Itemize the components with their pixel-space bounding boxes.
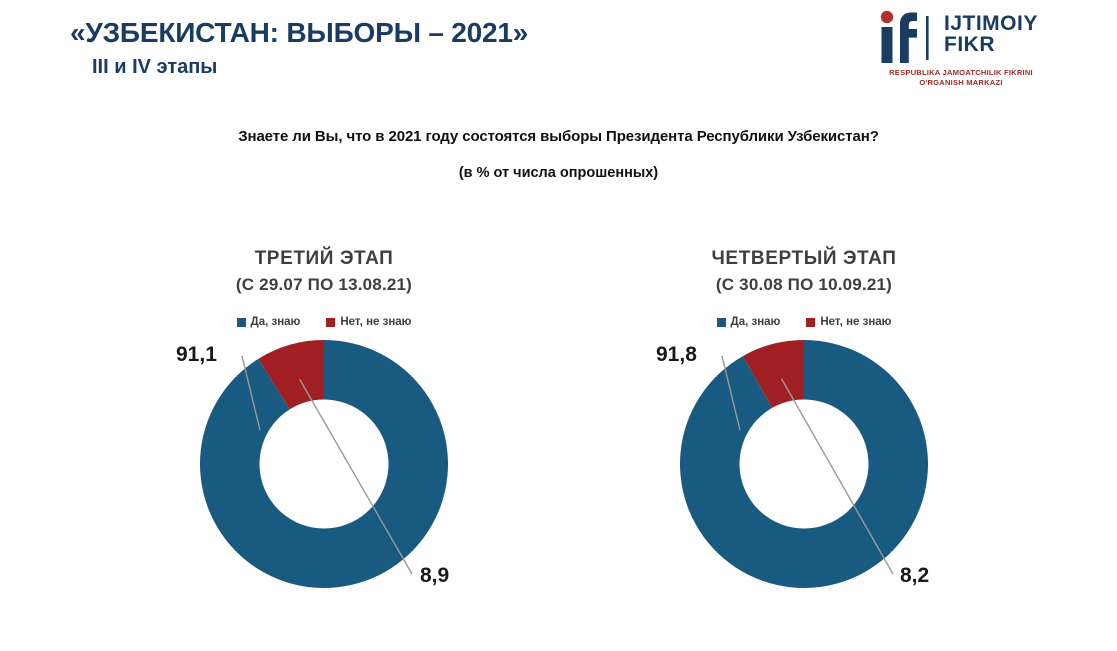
- legend-item-yes[interactable]: Да, знаю: [237, 316, 301, 328]
- logo-wordmark: IJTIMOIY FIKR: [944, 14, 1038, 55]
- logo-word-line1: IJTIMOIY: [944, 14, 1038, 35]
- legend-label-no: Нет, не знаю: [340, 316, 411, 328]
- chart-panel-stage-three: ТРЕТИЙ ЭТАП (С 29.07 ПО 13.08.21) Да, зн…: [64, 248, 584, 648]
- legend-item-no[interactable]: Нет, не знаю: [806, 316, 891, 328]
- page-title: «УЗБЕКИСТАН: ВЫБОРЫ – 2021»: [70, 18, 710, 49]
- data-label-no: 8,2: [900, 564, 929, 588]
- logo-word-line2: FIKR: [944, 35, 1038, 56]
- donut-slices: [200, 340, 448, 588]
- chart-subtitle: (С 29.07 ПО 13.08.21): [64, 275, 584, 295]
- legend-swatch-no: [806, 318, 815, 327]
- legend-item-yes[interactable]: Да, знаю: [717, 316, 781, 328]
- chart-legend: Да, знаю Нет, не знаю: [64, 316, 584, 328]
- chart-legend: Да, знаю Нет, не знаю: [544, 316, 1064, 328]
- chart-subtitle: (С 30.08 ПО 10.09.21): [544, 275, 1064, 295]
- survey-question-block: Знаете ли Вы, что в 2021 году состоятся …: [0, 128, 1117, 181]
- data-label-no: 8,9: [420, 564, 449, 588]
- page-subtitle: III и IV этапы: [92, 56, 710, 78]
- if-monogram-icon: [876, 10, 938, 64]
- chart-panel-stage-four: ЧЕТВЕРТЫЙ ЭТАП (С 30.08 ПО 10.09.21) Да,…: [544, 248, 1064, 648]
- legend-swatch-yes: [237, 318, 246, 327]
- logo-tagline: RESPUBLIKA JAMOATCHILIK FIKRINI O'RGANIS…: [876, 68, 1046, 89]
- donut-chart-stage-four: 91,8 8,2: [544, 334, 1064, 634]
- legend-item-no[interactable]: Нет, не знаю: [326, 316, 411, 328]
- survey-question-unit: (в % от числа опрошенных): [0, 165, 1117, 181]
- chart-title: ЧЕТВЕРТЫЙ ЭТАП: [544, 248, 1064, 270]
- legend-label-yes: Да, знаю: [251, 316, 301, 328]
- legend-label-no: Нет, не знаю: [820, 316, 891, 328]
- donut-svg: [64, 334, 584, 634]
- legend-swatch-no: [326, 318, 335, 327]
- header-title-block: «УЗБЕКИСТАН: ВЫБОРЫ – 2021» III и IV эта…: [70, 18, 710, 78]
- chart-title: ТРЕТИЙ ЭТАП: [64, 248, 584, 270]
- legend-swatch-yes: [717, 318, 726, 327]
- data-label-yes: 91,8: [656, 343, 697, 367]
- legend-label-yes: Да, знаю: [731, 316, 781, 328]
- donut-chart-stage-three: 91,1 8,9: [64, 334, 584, 634]
- survey-question-text: Знаете ли Вы, что в 2021 году состоятся …: [0, 128, 1117, 145]
- donut-slices: [680, 340, 928, 588]
- donut-svg: [544, 334, 1064, 634]
- organization-logo: IJTIMOIY FIKR RESPUBLIKA JAMOATCHILIK FI…: [876, 8, 1046, 92]
- data-label-yes: 91,1: [176, 343, 217, 367]
